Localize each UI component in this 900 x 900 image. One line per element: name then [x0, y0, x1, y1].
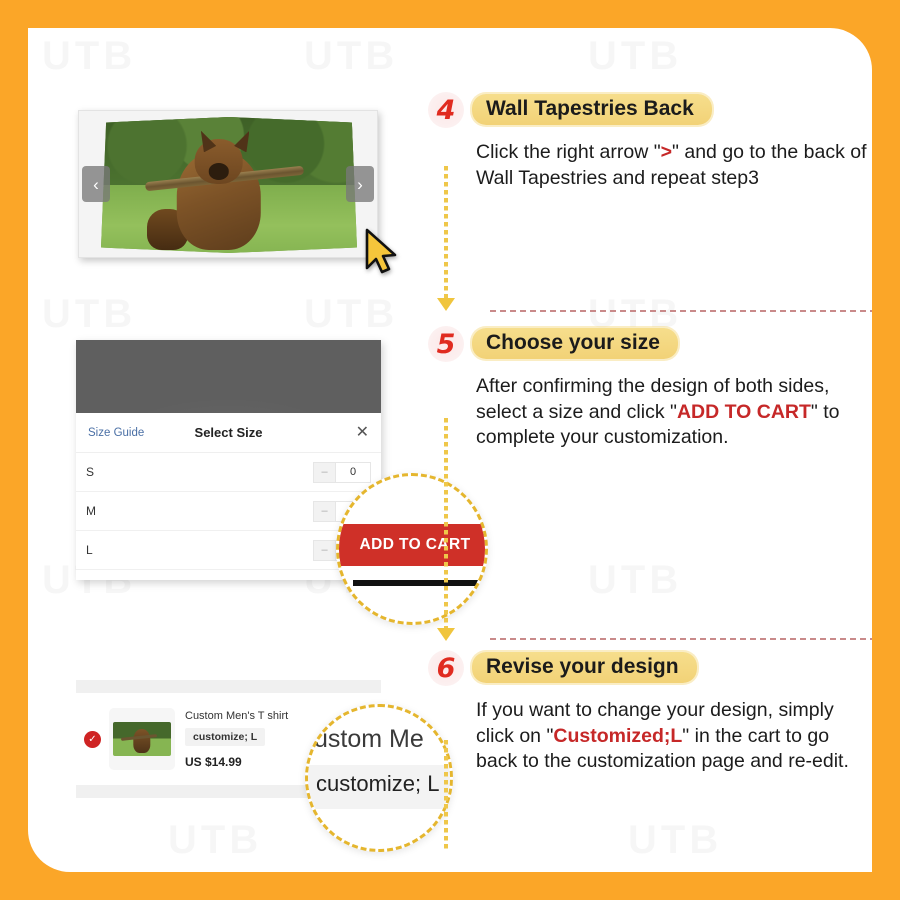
step-5-body: After confirming the design of both side…: [476, 374, 868, 451]
carousel-next-arrow-icon[interactable]: ›: [346, 166, 374, 202]
step-body-highlight: >: [661, 141, 672, 163]
section-divider: [490, 310, 872, 312]
size-row[interactable]: M – 0: [76, 492, 381, 531]
cart-top-bar: [76, 680, 381, 693]
flow-connector-line: [444, 740, 448, 852]
flow-connector-line: [444, 418, 448, 628]
flow-arrow-down-icon: [437, 298, 455, 311]
size-panel-title: Select Size: [76, 425, 381, 440]
product-carousel: ‹ ›: [78, 110, 378, 258]
panel-backdrop-overlay: [76, 340, 381, 413]
instructions-column: 4 Wall Tapestries Back Click the right a…: [410, 28, 872, 872]
step-6-header: 6 Revise your design: [410, 648, 872, 692]
backdrop-gradient: [76, 340, 381, 413]
thumb-dog-shape: [133, 729, 150, 753]
size-label: M: [86, 504, 313, 518]
cart-item-info: Custom Men's T shirt customize; L US $14…: [185, 710, 288, 769]
size-label: S: [86, 465, 313, 479]
step-title: Revise your design: [472, 652, 697, 683]
step-number-badge: 4: [428, 92, 464, 128]
step-title: Choose your size: [472, 328, 678, 359]
size-row[interactable]: S – 0: [76, 453, 381, 492]
step-body-pre: Click the right arrow ": [476, 141, 661, 163]
step-title: Wall Tapestries Back: [472, 94, 712, 125]
section-divider: [490, 638, 872, 640]
cart-price: US $14.99: [185, 755, 288, 769]
tapestry-preview-image: [101, 117, 357, 253]
cart-thumbnail[interactable]: [109, 708, 175, 770]
minus-icon[interactable]: –: [313, 540, 335, 561]
step-body-highlight: ADD TO CART: [677, 401, 811, 423]
step-4: 4 Wall Tapestries Back Click the right a…: [410, 90, 872, 191]
mouse-cursor-icon: [365, 228, 399, 274]
size-label: L: [86, 543, 313, 557]
minus-icon[interactable]: –: [313, 501, 335, 522]
page-root: UTB UTB UTB UTB UTB UTB UTB UTB UTB UTB …: [0, 0, 900, 900]
step-number-badge: 6: [428, 650, 464, 686]
step-body-highlight: Customized;L: [553, 725, 682, 747]
magnified-product-name: ustom Me: [314, 725, 424, 754]
step-4-header: 4 Wall Tapestries Back: [410, 90, 872, 134]
size-panel-header: Size Guide Select Size ✕: [76, 413, 381, 453]
step-5: 5 Choose your size After confirming the …: [410, 324, 872, 451]
quantity-value[interactable]: 0: [335, 462, 371, 483]
screenshots-column: ‹ › Size Guide Select Size ✕ S: [28, 28, 428, 872]
step-number-badge: 5: [428, 326, 464, 362]
minus-icon[interactable]: –: [313, 462, 335, 483]
step-6-body: If you want to change your design, simpl…: [476, 698, 868, 775]
customize-badge[interactable]: customize; L: [185, 728, 265, 746]
instruction-card: UTB UTB UTB UTB UTB UTB UTB UTB UTB UTB …: [28, 28, 872, 872]
step-6: 6 Revise your design If you want to chan…: [410, 648, 872, 775]
flow-connector-line: [444, 166, 448, 298]
step-4-body: Click the right arrow ">" and go to the …: [476, 140, 868, 191]
cart-product-name[interactable]: Custom Men's T shirt: [185, 710, 288, 722]
carousel-prev-arrow-icon[interactable]: ‹: [82, 166, 110, 202]
item-selected-checkbox[interactable]: ✓: [84, 731, 101, 748]
step-5-header: 5 Choose your size: [410, 324, 872, 368]
cart-thumbnail-image: [113, 722, 171, 756]
quantity-stepper[interactable]: – 0: [313, 462, 371, 483]
flow-arrow-down-icon: [437, 628, 455, 641]
